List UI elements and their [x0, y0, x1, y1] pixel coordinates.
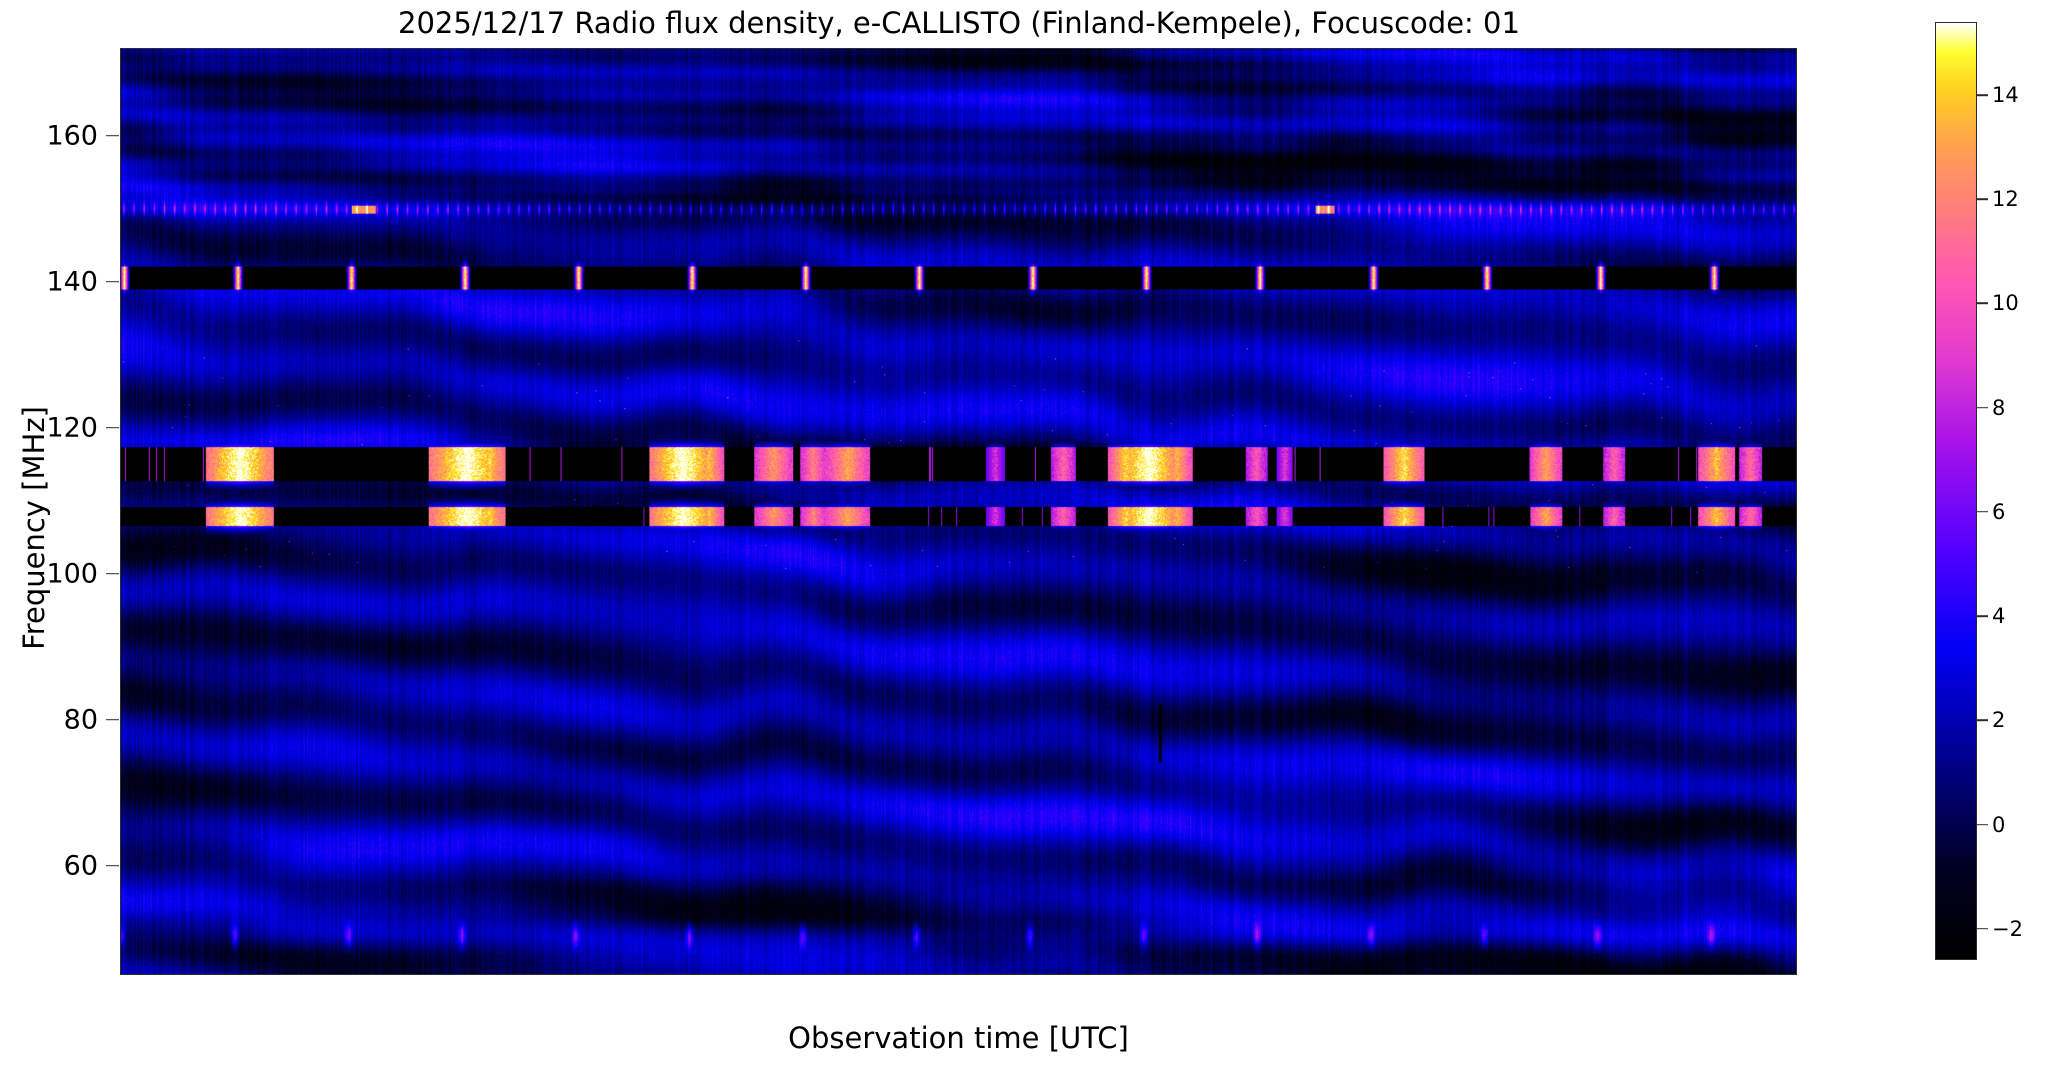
colorbar-tick-mark [1977, 511, 1988, 513]
colorbar-tick-label: 2 [1992, 708, 2005, 732]
y-tick-mark [106, 135, 119, 137]
colorbar-tick-label: 4 [1992, 604, 2005, 628]
spectrogram-canvas-holder [121, 49, 1796, 974]
y-tick-mark [106, 865, 119, 867]
colorbar-tick-label: 8 [1992, 396, 2005, 420]
y-tick-mark [106, 427, 119, 429]
spectrogram-plot-area [120, 48, 1797, 975]
colorbar-tick-label: 14 [1992, 83, 2019, 107]
colorbar-tick-mark [1977, 94, 1988, 96]
y-tick-label: 160 [8, 120, 98, 151]
y-tick-label: 140 [8, 266, 98, 297]
figure-root: 2025/12/17 Radio flux density, e-CALLIST… [0, 0, 2066, 1067]
colorbar-tick-mark [1977, 303, 1988, 305]
x-axis-label: Observation time [UTC] [120, 1021, 1797, 1055]
colorbar-tick-mark [1977, 198, 1988, 200]
colorbar-tick-mark [1977, 719, 1988, 721]
colorbar-tick-label: 0 [1992, 813, 2005, 837]
y-tick-mark [106, 573, 119, 575]
y-axis-label: Frequency [MHz] [17, 308, 51, 748]
colorbar-tick-mark [1977, 615, 1988, 617]
page-title: 2025/12/17 Radio flux density, e-CALLIST… [120, 6, 1798, 40]
spectrogram-image [121, 49, 1796, 974]
colorbar [1935, 22, 1977, 960]
colorbar-tick-mark [1977, 928, 1988, 930]
colorbar-tick-label: −2 [1992, 917, 2023, 941]
colorbar-tick-mark [1977, 824, 1988, 826]
colorbar-tick-label: 6 [1992, 500, 2005, 524]
colorbar-tick-label: 10 [1992, 291, 2019, 315]
colorbar-tick-label: 12 [1992, 187, 2019, 211]
y-tick-mark [106, 281, 119, 283]
y-tick-mark [106, 719, 119, 721]
colorbar-gradient [1936, 23, 1976, 959]
y-tick-label: 60 [8, 850, 98, 881]
colorbar-tick-mark [1977, 407, 1988, 409]
